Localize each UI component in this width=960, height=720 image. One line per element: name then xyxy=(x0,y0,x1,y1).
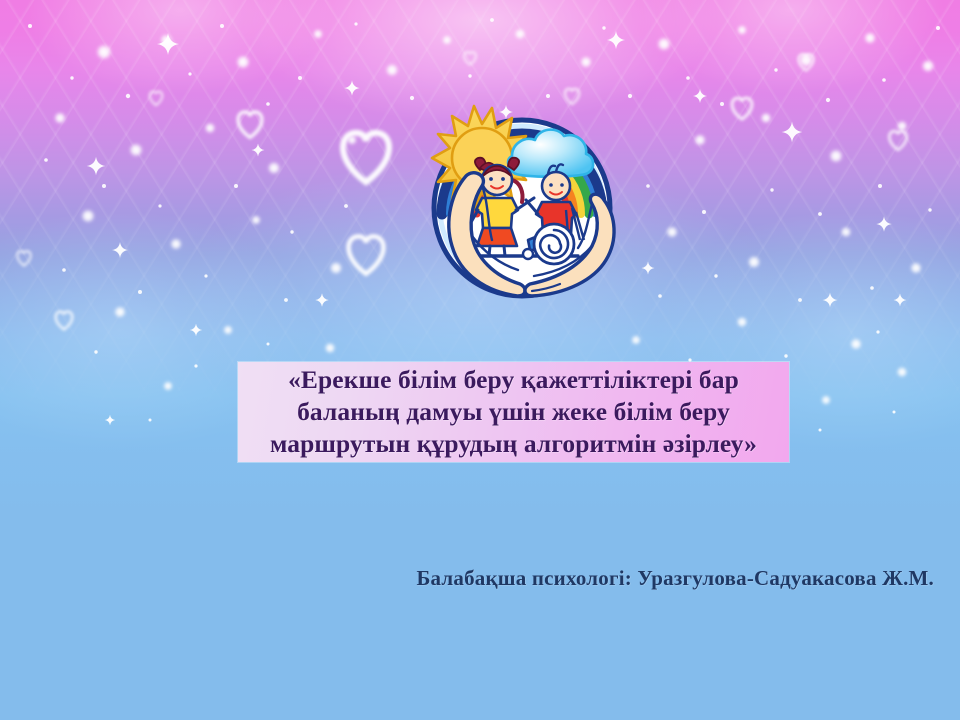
author-line: Балабақша психологі: Уразгулова-Садуакас… xyxy=(0,566,934,591)
title-line-1: «Ерекше білім беру қажеттіліктері бар xyxy=(288,364,739,396)
emblem-graphic xyxy=(408,88,636,310)
title-line-2: баланың дамуы үшін жеке білім беру xyxy=(297,396,730,428)
title-line-3: маршрутын құрудың алгоритмін әзірлеу» xyxy=(270,428,757,460)
title-box: «Ерекше білім беру қажеттіліктері бар ба… xyxy=(238,362,789,462)
title-slide: «Ерекше білім беру қажеттіліктері бар ба… xyxy=(0,0,960,720)
emblem xyxy=(408,88,636,310)
